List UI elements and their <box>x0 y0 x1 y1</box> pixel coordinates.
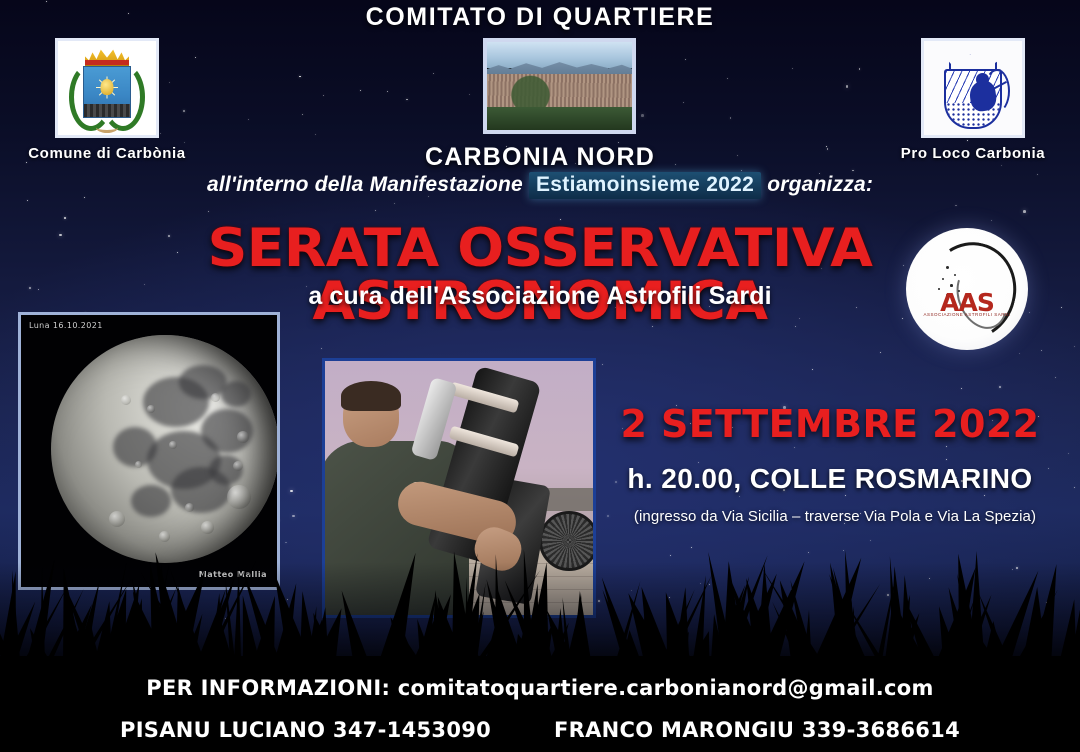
moon-photo: Luna 16.10.2021 Matteo Mallia <box>18 312 280 590</box>
moon-photo-caption: Luna 16.10.2021 <box>29 321 103 330</box>
manifestation-suffix: organizza: <box>767 173 873 196</box>
contact-person-2: FRANCO MARONGIU 339-3686614 <box>554 718 960 742</box>
carbonia-aerial-photo <box>483 38 636 134</box>
contact-info-line: PER INFORMAZIONI: comitatoquartiere.carb… <box>0 676 1080 700</box>
archer-icon <box>964 67 1006 119</box>
coat-of-arms-icon <box>58 41 156 135</box>
moon-disc <box>51 335 279 563</box>
aas-logo-subtext: ASSOCIAZIONE ASTROFILI SARDI <box>906 312 1028 317</box>
event-address-note: (ingresso da Via Sicilia – traverse Via … <box>600 508 1070 525</box>
contact-people-row: PISANU LUCIANO 347-1453090 FRANCO MARONG… <box>120 718 960 742</box>
shield-icon <box>83 66 131 118</box>
event-date: 2 SETTEMBRE 2022 <box>600 402 1060 446</box>
manifestation-highlight: Estiamoinsieme 2022 <box>529 172 761 199</box>
event-time-place: h. 20.00, COLLE ROSMARINO <box>600 463 1060 495</box>
manifestation-line: all'interno della Manifestazione Estiamo… <box>0 172 1080 199</box>
aas-logo-icon: AAS ASSOCIAZIONE ASTROFILI SARDI <box>906 228 1028 350</box>
page-title: COMITATO DI QUARTIERE <box>0 3 1080 32</box>
comune-crest-logo <box>55 38 159 138</box>
archer-crest-icon <box>924 41 1022 135</box>
proloco-crest-logo <box>921 38 1025 138</box>
contact-person-1: PISANU LUCIANO 347-1453090 <box>120 718 491 742</box>
district-title: CARBONIA NORD <box>0 143 1080 172</box>
poster-canvas: Comune di Carbònia Pro Loco Carbonia COM… <box>0 0 1080 752</box>
manifestation-prefix: all'interno della Manifestazione <box>207 173 523 196</box>
